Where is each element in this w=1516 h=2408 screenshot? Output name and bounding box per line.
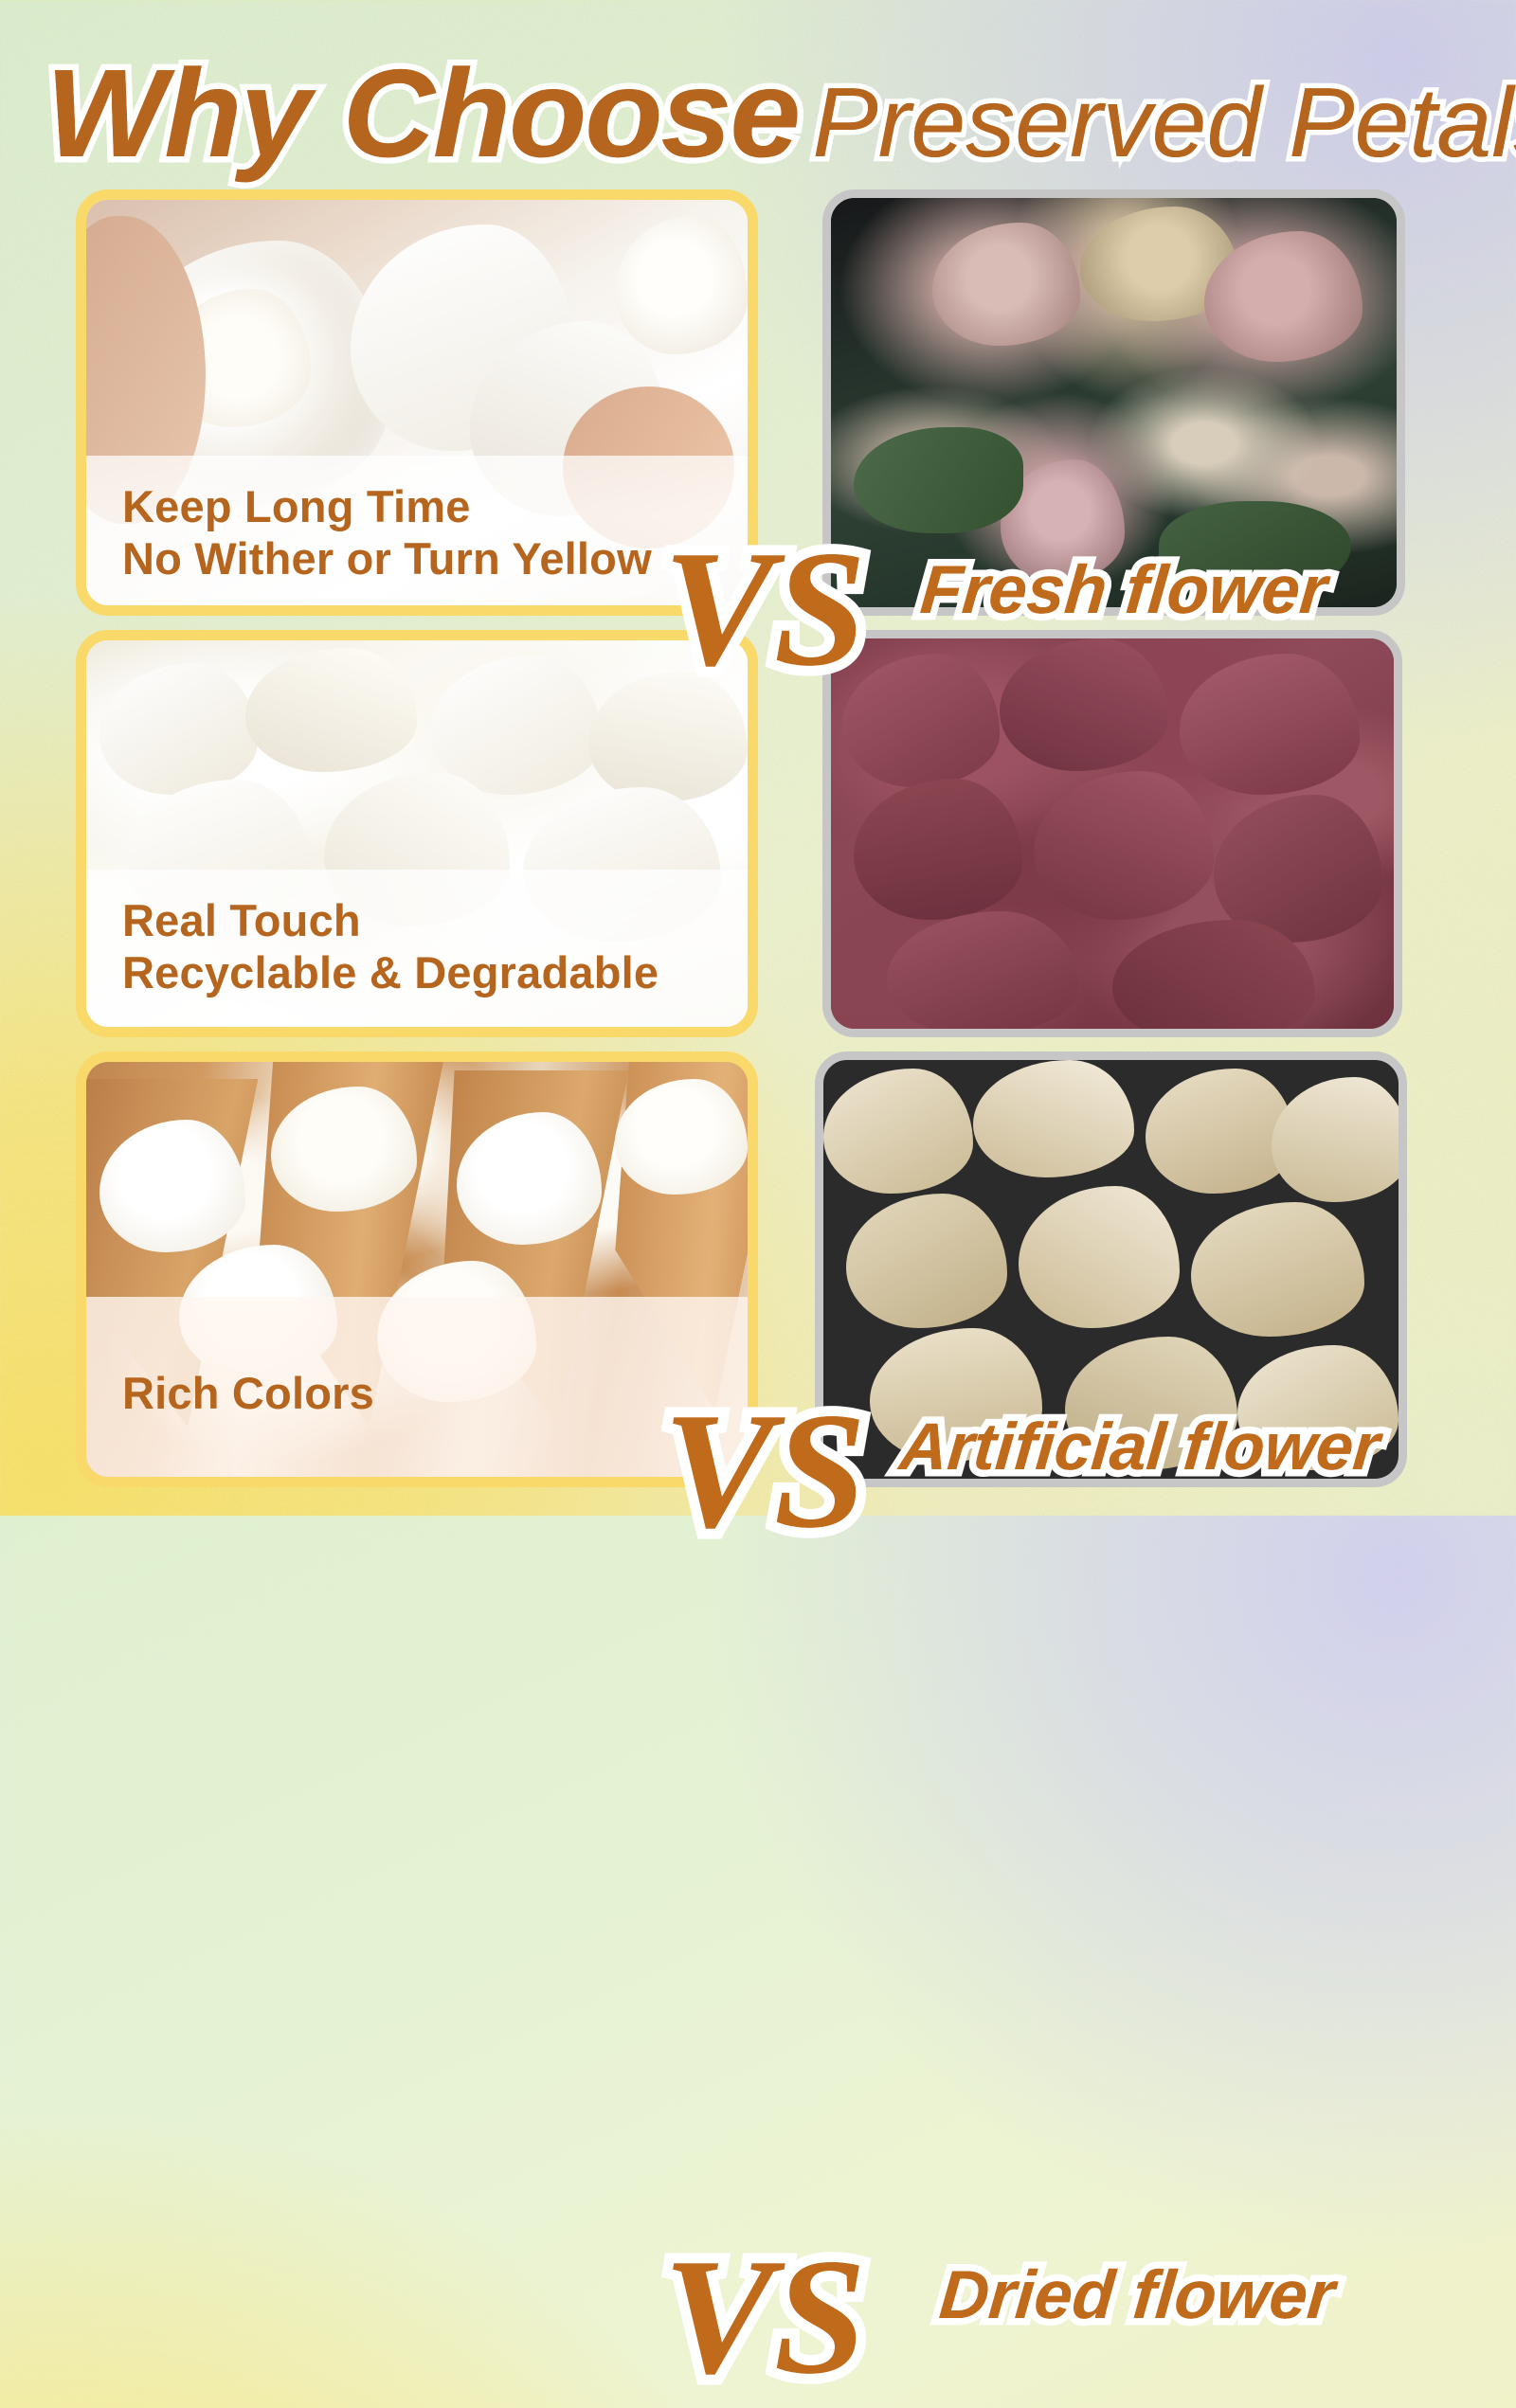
vs-divider: VSVS [663, 526, 866, 692]
card-caption: Rich Colors [86, 1297, 748, 1477]
vs-divider: VSVS [663, 2234, 866, 2399]
vs-divider: VSVS [663, 1388, 866, 1554]
comparison-grid: Keep Long Time No Wither or Turn Yellow … [0, 0, 1516, 1516]
right-card-label: Dried flowerDried flower [936, 2256, 1337, 2334]
maroon-artificial-silk-petals-image [831, 638, 1394, 1029]
wilted-fresh-roses-on-bush-image [831, 198, 1397, 607]
card-caption: Keep Long Time No Wither or Turn Yellow [86, 456, 748, 605]
caption-line: Keep Long Time [122, 480, 712, 532]
title-light-part-fill: Preserved Petals? [812, 74, 1516, 172]
title-bold-part-fill: Why Choose [45, 51, 799, 176]
caption-line: Recyclable & Degradable [122, 946, 712, 998]
caption-line: Real Touch [122, 894, 712, 946]
page-title: Why Choose Why Choose Preserved Petals? … [0, 47, 1516, 180]
preserved-petals-card-3: Rich Colors [76, 1051, 758, 1487]
caption-line: No Wither or Turn Yellow [122, 532, 712, 584]
right-card-label: Artificial flowerArtificial flower [897, 1409, 1383, 1484]
artificial-flower-card [822, 630, 1402, 1037]
preserved-petals-card-1: Keep Long Time No Wither or Turn Yellow [76, 189, 758, 616]
right-card-label: Fresh flowerFresh flower [917, 551, 1329, 629]
caption-line: Rich Colors [122, 1367, 712, 1419]
preserved-petals-card-2: Real Touch Recyclable & Degradable [76, 630, 758, 1037]
card-caption: Real Touch Recyclable & Degradable [86, 870, 748, 1027]
comparison-row: Keep Long Time No Wither or Turn Yellow … [0, 189, 1516, 616]
